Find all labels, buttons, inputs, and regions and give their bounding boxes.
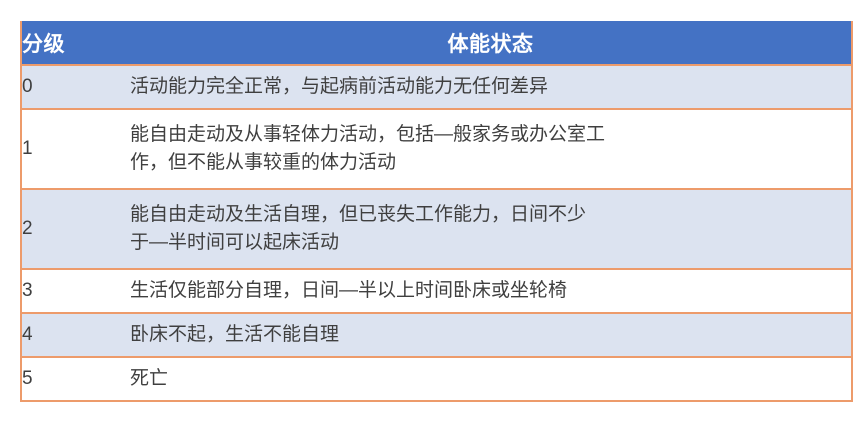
cell-status: 能自由走动及从事轻体力活动，包括—般家务或办公室工 作，但不能从事较重的体力活动 xyxy=(130,109,851,189)
table-row: 3 生活仅能部分自理，日间—半以上时间卧床或坐轮椅 xyxy=(22,269,851,313)
status-line: 活动能力完全正常，与起病前活动能力无任何差异 xyxy=(130,73,851,101)
cell-status: 活动能力完全正常，与起病前活动能力无任何差异 xyxy=(130,65,851,109)
table-body: 0 活动能力完全正常，与起病前活动能力无任何差异 1 能自由走动及从事轻体力活动… xyxy=(22,65,851,400)
table-row: 0 活动能力完全正常，与起病前活动能力无任何差异 xyxy=(22,65,851,109)
cell-grade: 5 xyxy=(22,357,130,400)
column-header-status: 体能状态 xyxy=(130,21,851,65)
status-line: 于—半时间可以起床活动 xyxy=(130,229,851,257)
status-line: 卧床不起，生活不能自理 xyxy=(130,321,851,349)
table-row: 5 死亡 xyxy=(22,357,851,400)
column-header-grade: 分级 xyxy=(22,21,130,65)
performance-status-table-container: 分级 体能状态 0 活动能力完全正常，与起病前活动能力无任何差异 1 能自由走动… xyxy=(20,21,853,402)
header-row: 分级 体能状态 xyxy=(22,21,851,65)
status-line: 能自由走动及从事轻体力活动，包括—般家务或办公室工 xyxy=(130,121,851,149)
cell-grade: 0 xyxy=(22,65,130,109)
page-root: 分级 体能状态 0 活动能力完全正常，与起病前活动能力无任何差异 1 能自由走动… xyxy=(0,0,867,438)
cell-grade: 2 xyxy=(22,189,130,269)
performance-status-table: 分级 体能状态 0 活动能力完全正常，与起病前活动能力无任何差异 1 能自由走动… xyxy=(22,21,851,400)
status-line: 死亡 xyxy=(130,365,851,393)
cell-status: 死亡 xyxy=(130,357,851,400)
table-row: 4 卧床不起，生活不能自理 xyxy=(22,313,851,357)
cell-status: 卧床不起，生活不能自理 xyxy=(130,313,851,357)
cell-grade: 3 xyxy=(22,269,130,313)
table-row: 1 能自由走动及从事轻体力活动，包括—般家务或办公室工 作，但不能从事较重的体力… xyxy=(22,109,851,189)
cell-status: 能自由走动及生活自理，但已丧失工作能力，日间不少 于—半时间可以起床活动 xyxy=(130,189,851,269)
status-line: 生活仅能部分自理，日间—半以上时间卧床或坐轮椅 xyxy=(130,277,851,305)
table-header: 分级 体能状态 xyxy=(22,21,851,65)
cell-grade: 4 xyxy=(22,313,130,357)
cell-status: 生活仅能部分自理，日间—半以上时间卧床或坐轮椅 xyxy=(130,269,851,313)
status-line: 作，但不能从事较重的体力活动 xyxy=(130,149,851,177)
table-row: 2 能自由走动及生活自理，但已丧失工作能力，日间不少 于—半时间可以起床活动 xyxy=(22,189,851,269)
status-line: 能自由走动及生活自理，但已丧失工作能力，日间不少 xyxy=(130,201,851,229)
cell-grade: 1 xyxy=(22,109,130,189)
